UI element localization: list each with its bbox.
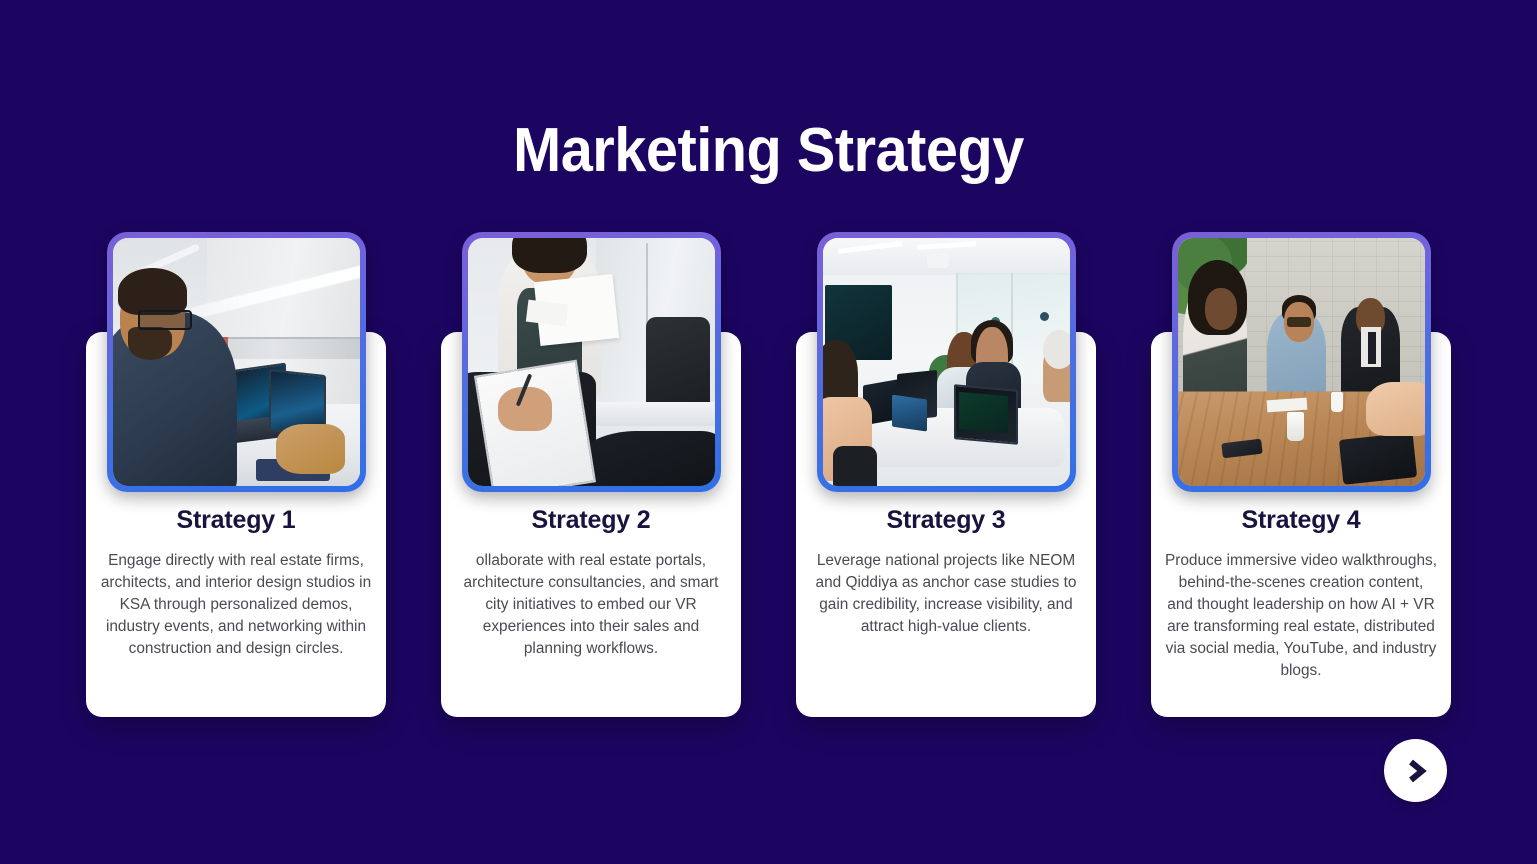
card-image	[113, 238, 360, 486]
next-slide-button[interactable]	[1384, 739, 1447, 802]
card-title: Strategy 3	[796, 504, 1096, 536]
card-image	[1178, 238, 1425, 486]
man-at-laptops-in-workshop-photo	[113, 238, 360, 486]
chevron-right-icon	[1401, 756, 1431, 786]
card-image-frame	[817, 232, 1076, 492]
card-image-frame	[1172, 232, 1431, 492]
team-meeting-with-laptops-photo	[823, 238, 1070, 486]
card-body: Engage directly with real estate firms, …	[99, 550, 373, 660]
card-image-frame	[107, 232, 366, 492]
card-body: ollaborate with real estate portals, arc…	[454, 550, 728, 660]
card-body: Produce immersive video walkthroughs, be…	[1164, 550, 1438, 682]
card-title: Strategy 2	[441, 504, 741, 536]
woman-presenting-papers-in-office-photo	[468, 238, 715, 486]
card-image	[468, 238, 715, 486]
page-title: Marketing Strategy	[54, 112, 1483, 190]
card-body: Leverage national projects like NEOM and…	[809, 550, 1083, 638]
card-title: Strategy 1	[86, 504, 386, 536]
business-meeting-at-wooden-table-photo	[1178, 238, 1425, 486]
card-image-frame	[462, 232, 721, 492]
card-title: Strategy 4	[1151, 504, 1451, 536]
card-image	[823, 238, 1070, 486]
strategy-card-list: Strategy 1 Engage directly with real est…	[86, 232, 1451, 722]
slide-root: Marketing Strategy Strategy 1 Engage dir…	[0, 0, 1537, 864]
